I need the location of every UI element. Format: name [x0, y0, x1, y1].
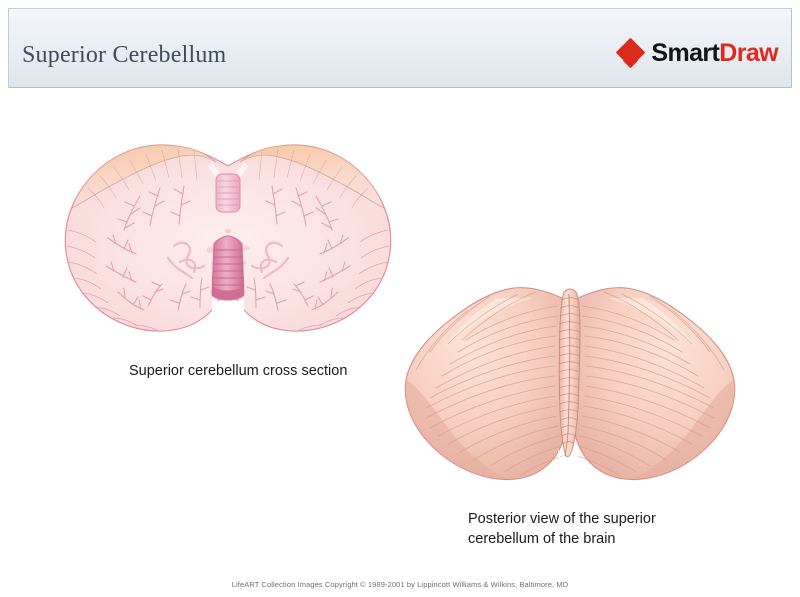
smartdraw-logo[interactable]: SmartDraw	[617, 40, 778, 66]
posterior-cerebellum-body	[405, 288, 735, 486]
logo-smart-text: Smart	[651, 39, 719, 67]
vermis-lower	[212, 236, 244, 301]
figure-posterior-view-superior-cerebellum	[398, 272, 742, 500]
smartdraw-diamond-logo-icon	[617, 40, 643, 66]
vermis-upper	[216, 174, 240, 212]
footer-copyright: LifeART Collection Images Copyright © 19…	[0, 580, 800, 589]
caption-posterior-view: Posterior view of the superior cerebellu…	[468, 510, 656, 549]
cross-section-body	[65, 145, 391, 331]
smartdraw-wordmark: SmartDraw	[651, 41, 778, 66]
figure-superior-cerebellum-cross-section	[48, 126, 408, 346]
logo-draw-text: Draw	[719, 39, 778, 67]
page-title: Superior Cerebellum	[22, 42, 226, 69]
caption-cross-section: Superior cerebellum cross section	[129, 362, 347, 382]
